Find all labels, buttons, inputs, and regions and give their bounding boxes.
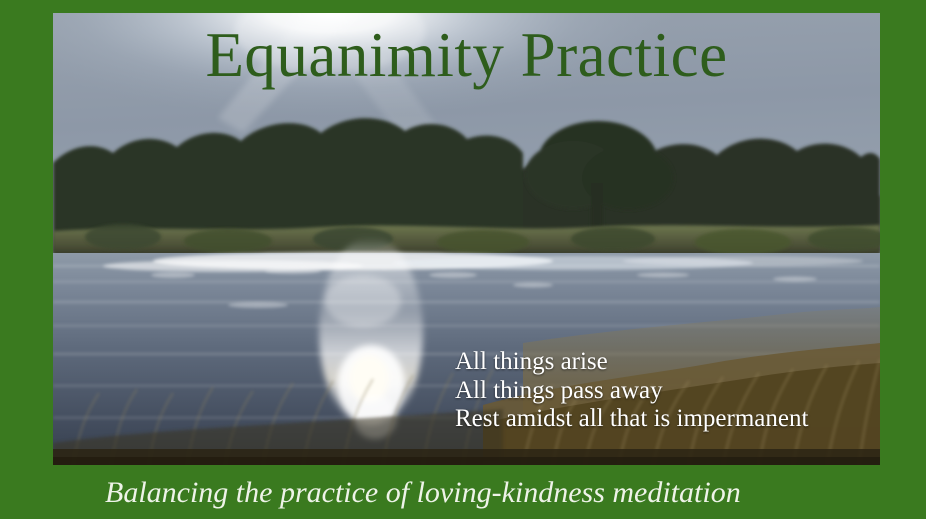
slide-title: Equanimity Practice [53,24,880,87]
page-edge-right [926,0,937,531]
page-edge-bottom [0,519,937,531]
slide-subtitle-caption: Balancing the practice of loving-kindnes… [105,476,741,510]
quote-block: All things arise All things pass away Re… [455,348,808,434]
quote-line-1: All things arise [455,348,808,377]
slide-root: Equanimity Practice All things arise All… [0,0,937,531]
quote-line-2: All things pass away [455,377,808,406]
quote-line-3: Rest amidst all that is impermanent [455,405,808,434]
